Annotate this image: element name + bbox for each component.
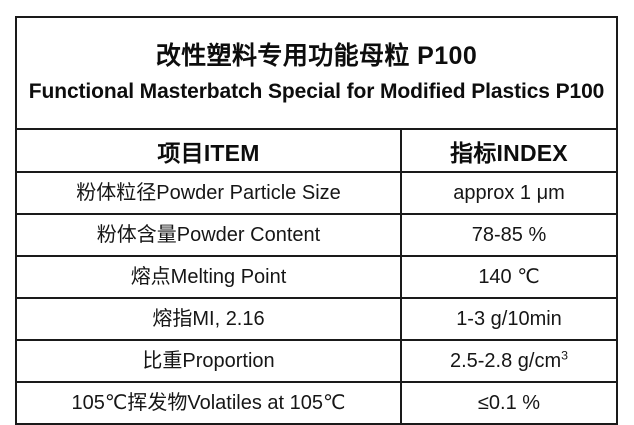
row-index-value: 140 ℃ [478, 266, 539, 288]
row-item-label: 粉体粒径Powder Particle Size [76, 182, 341, 204]
row-index-value: ≤0.1 % [478, 392, 540, 414]
row-index-value: 2.5-2.8 g/cm3 [450, 350, 568, 372]
column-header-item: 项目ITEM [16, 129, 401, 172]
table-row: 熔点Melting Point 140 ℃ [16, 256, 617, 298]
row-index-cell: 78-85 % [401, 214, 617, 256]
table-row: 比重Proportion 2.5-2.8 g/cm3 [16, 340, 617, 382]
row-item-cell: 比重Proportion [16, 340, 401, 382]
row-index-cell: 1-3 g/10min [401, 298, 617, 340]
row-index-cell: 140 ℃ [401, 256, 617, 298]
column-header-index: 指标INDEX [401, 129, 617, 172]
title-row: 改性塑料专用功能母粒 P100 Functional Masterbatch S… [16, 17, 617, 129]
product-title-chinese: 改性塑料专用功能母粒 P100 [17, 40, 616, 74]
row-index-value: 1-3 g/10min [456, 308, 562, 330]
table-row: 粉体含量Powder Content 78-85 % [16, 214, 617, 256]
row-index-cell: ≤0.1 % [401, 382, 617, 424]
row-item-label: 105℃挥发物Volatiles at 105℃ [72, 392, 346, 414]
row-item-cell: 粉体含量Powder Content [16, 214, 401, 256]
product-title-english: Functional Masterbatch Special for Modif… [17, 78, 616, 106]
spec-sheet-page: 改性塑料专用功能母粒 P100 Functional Masterbatch S… [0, 0, 634, 424]
row-index-value-exponent: 3 [561, 348, 568, 362]
row-item-label: 粉体含量Powder Content [97, 224, 320, 246]
row-index-value: 78-85 % [472, 224, 547, 246]
product-spec-table: 改性塑料专用功能母粒 P100 Functional Masterbatch S… [15, 16, 618, 425]
table-row: 105℃挥发物Volatiles at 105℃ ≤0.1 % [16, 382, 617, 424]
row-item-cell: 熔点Melting Point [16, 256, 401, 298]
row-item-label: 熔点Melting Point [131, 266, 287, 288]
row-item-cell: 粉体粒径Powder Particle Size [16, 172, 401, 214]
row-index-cell: approx 1 μm [401, 172, 617, 214]
title-cell: 改性塑料专用功能母粒 P100 Functional Masterbatch S… [16, 17, 617, 129]
row-item-label: 比重Proportion [142, 350, 274, 372]
row-item-cell: 105℃挥发物Volatiles at 105℃ [16, 382, 401, 424]
table-row: 粉体粒径Powder Particle Size approx 1 μm [16, 172, 617, 214]
row-index-value: approx 1 μm [453, 182, 565, 204]
row-item-label: 熔指MI, 2.16 [152, 308, 264, 330]
table-row: 熔指MI, 2.16 1-3 g/10min [16, 298, 617, 340]
column-header-row: 项目ITEM 指标INDEX [16, 129, 617, 172]
column-header-index-label: 指标INDEX [450, 140, 568, 166]
row-index-value-base: 2.5-2.8 g/cm [450, 350, 561, 372]
row-index-cell: 2.5-2.8 g/cm3 [401, 340, 617, 382]
row-item-cell: 熔指MI, 2.16 [16, 298, 401, 340]
column-header-item-label: 项目ITEM [157, 140, 259, 166]
